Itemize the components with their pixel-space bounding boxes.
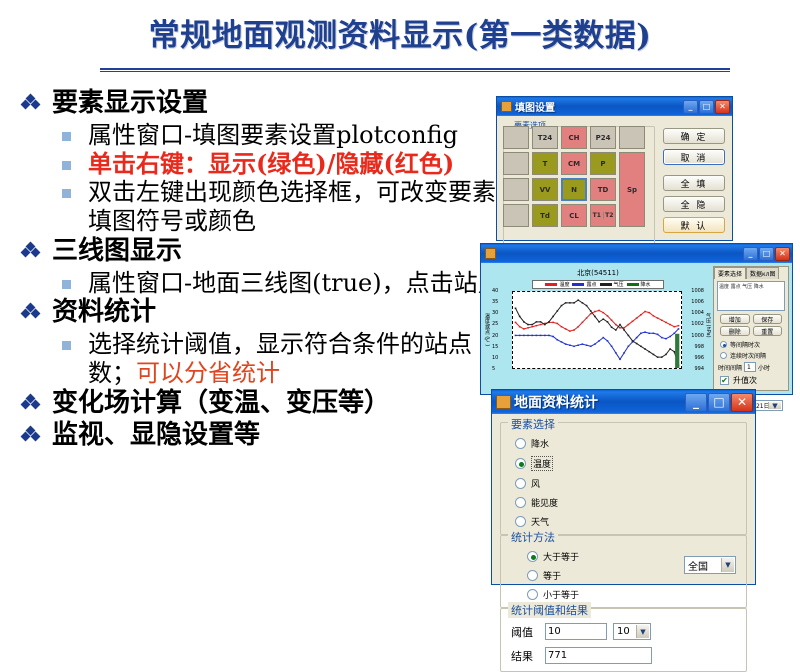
chart-body: 北京(54511) 温度 露点 气压 降水 (481, 263, 792, 394)
chart-marker (536, 335, 538, 337)
radio-label: 小于等于 (543, 588, 579, 601)
chart-marker (552, 322, 554, 324)
radio-label: 等于 (543, 569, 561, 582)
chart-marker (644, 311, 646, 313)
chart-marker (619, 359, 621, 361)
axis-tick-label: 15 (492, 344, 498, 350)
radio-wind[interactable]: 风 (515, 477, 746, 490)
chart-marker (619, 327, 621, 329)
chart-marker (544, 335, 546, 337)
chevron-down-icon[interactable]: ▼ (636, 625, 649, 638)
chart-marker (548, 335, 550, 337)
checkbox-row[interactable]: ✔ 升值次 (720, 375, 782, 386)
axis-tick-label: 1000 (691, 333, 704, 339)
chart-marker (523, 321, 525, 323)
interval-row: 时间间隔 1 小时 (718, 362, 784, 372)
chart-marker (531, 324, 533, 326)
legend-swatch (545, 283, 557, 286)
chart-marker (598, 321, 600, 323)
chart-marker (648, 312, 650, 314)
list-item: 资料统计 (14, 297, 514, 329)
chart-marker (602, 312, 604, 314)
title-divider (100, 68, 730, 72)
close-button[interactable]: ✕ (775, 247, 790, 261)
chart-precip-bar (675, 334, 679, 368)
chart-marker (653, 354, 655, 356)
grid-cell[interactable]: P (590, 152, 616, 175)
chart-marker (548, 321, 550, 323)
list-item: 变化场计算（变温、变压等） (14, 388, 514, 420)
interval-mode-radios: 等间隔时次 连续时次间隔 (720, 340, 782, 360)
chart-marker (632, 321, 634, 323)
chart-plot-canvas (512, 291, 682, 369)
legend-swatch (600, 283, 612, 286)
chart-marker (628, 346, 630, 348)
window-title: 填图设置 (515, 99, 682, 114)
chart-marker (515, 308, 517, 310)
close-button[interactable]: ✕ (731, 393, 753, 412)
grid-cell[interactable]: T (532, 152, 558, 175)
chart-marker (640, 333, 642, 335)
square-bullet-icon (62, 132, 71, 141)
chart-marker (669, 336, 671, 338)
plotconfig-window[interactable]: 填图设置 _ □ ✕ 要素选项 T24 CH P24 T CM P Sp VV … (496, 96, 733, 241)
radio-precipitation[interactable]: 降水 (515, 437, 746, 450)
radio-label: 连续时次间隔 (730, 351, 766, 360)
chart-marker (632, 340, 634, 342)
chart-marker (527, 327, 529, 329)
chart-marker (661, 356, 663, 358)
reset-button[interactable]: 重置 (753, 326, 783, 336)
default-button[interactable]: 默 认 (663, 217, 725, 233)
chart-marker (586, 305, 588, 307)
window-title: 地面资料统计 (514, 392, 684, 412)
radio-less-equal[interactable]: 小于等于 (527, 588, 746, 601)
hide-all-button[interactable]: 全 隐 (663, 196, 725, 212)
chart-marker (665, 338, 667, 340)
minimize-button[interactable]: _ (685, 393, 707, 412)
radio-temperature[interactable]: 温度 (515, 456, 746, 471)
interval-unit: 小时 (758, 363, 770, 372)
fill-all-button[interactable]: 全 填 (663, 175, 725, 191)
chart-marker (653, 333, 655, 335)
chart-marker (577, 326, 579, 328)
chart-marker (636, 337, 638, 339)
axis-tick-label: 5 (492, 366, 495, 372)
grid-cell[interactable]: CM (561, 152, 587, 175)
checkbox-icon[interactable]: ✔ (720, 376, 729, 385)
titlebar[interactable]: 填图设置 _ □ ✕ (497, 97, 732, 116)
chart-marker (556, 339, 558, 341)
chart-marker (640, 346, 642, 348)
chart-marker (519, 316, 521, 318)
radio-bullet-icon (527, 589, 538, 600)
chart-marker (573, 346, 575, 348)
chart-marker (607, 321, 609, 323)
grid-cell[interactable]: Td (532, 204, 558, 227)
chart-marker (582, 302, 584, 304)
chart-marker (552, 336, 554, 338)
chart-marker (590, 313, 592, 315)
chart-marker (523, 328, 525, 330)
axis-tick-label: 994 (694, 366, 704, 372)
element-grid[interactable]: T24 CH P24 T CM P Sp VV N TD Td CL T1 T2 (503, 126, 645, 227)
radio-label: 天气 (531, 515, 549, 528)
page-title: 常规地面观测资料显示(第一类数据) (0, 10, 800, 55)
axis-tick-label: 35 (492, 299, 498, 305)
chart-marker (540, 321, 542, 323)
list-item: 双击左键出现颜色选择框，可改变要素填图符号或颜色 (14, 178, 514, 236)
chart-axes: 温度/露点 (℃) 气压 (hPa) 510152025303540 99499… (484, 291, 712, 377)
chart-marker (544, 324, 546, 326)
square-bullet-icon (62, 280, 71, 289)
chart-marker (515, 322, 517, 324)
chart-marker (569, 330, 571, 332)
axis-tick-label: 25 (492, 321, 498, 327)
axis-tick-label: 1006 (691, 299, 704, 305)
chart-marker (598, 310, 600, 312)
chart-marker (573, 329, 575, 331)
chart-marker (661, 337, 663, 339)
radio-bullet-icon (515, 478, 526, 489)
grid-cell[interactable]: TD (590, 178, 616, 201)
tab-element-select[interactable]: 要素选择 (714, 267, 746, 279)
chart-marker (565, 328, 567, 330)
chart-marker (611, 327, 613, 329)
threshold-label: 阈值 (511, 624, 545, 640)
list-item-label: 资料统计 (52, 297, 156, 327)
group-label: 统计方法 (508, 529, 558, 545)
chart-marker (540, 335, 542, 337)
list-item: 要素显示设置 (14, 88, 514, 120)
chart-marker (669, 324, 671, 326)
list-item-label: 监视、显隐设置等 (52, 420, 260, 450)
chart-area: 北京(54511) 温度 露点 气压 降水 (484, 266, 712, 391)
titlebar[interactable]: 地面资料统计 _ □ ✕ (492, 390, 755, 414)
chart-marker (657, 334, 659, 336)
legend-label: 降水 (641, 281, 651, 288)
plotconfig-body: 要素选项 T24 CH P24 T CM P Sp VV N TD Td CL … (497, 116, 732, 240)
stats-body: 要素选择 降水 温度 风 能见度 (492, 414, 755, 584)
chart-marker (598, 340, 600, 342)
grid-cell[interactable]: VV (532, 178, 558, 201)
list-item-label: 属性窗口-填图要素设置plotconfig (88, 121, 458, 149)
checkbox-label: 升值次 (733, 375, 757, 386)
chart-marker (669, 348, 671, 350)
chart-marker (569, 344, 571, 346)
radio-equal-interval[interactable]: 等间隔时次 (720, 340, 782, 349)
chart-marker (640, 314, 642, 316)
maximize-button[interactable]: □ (708, 393, 730, 412)
square-bullet-icon (62, 161, 71, 170)
radio-label: 风 (531, 477, 540, 490)
chart-marker (648, 333, 650, 335)
radio-bullet-icon (527, 570, 538, 581)
chart-marker (582, 343, 584, 345)
chart-marker (577, 299, 579, 301)
axis-tick-label: 30 (492, 310, 498, 316)
list-item-label: 要素显示设置 (52, 88, 208, 118)
diamond-bullet-icon (22, 305, 39, 319)
threshold-input[interactable]: 10 (545, 623, 607, 640)
chart-marker (594, 316, 596, 318)
radio-bullet-icon (515, 497, 526, 508)
side-button-row-2: 删除 重置 (720, 326, 782, 336)
chart-marker (573, 302, 575, 304)
list-item: 属性窗口-地面三线图(true)，点击站点 (14, 269, 514, 298)
chart-marker (611, 346, 613, 348)
list-item-label: 变化场计算（变温、变压等） (52, 388, 390, 418)
threshold-row: 阈值 10 10 ▼ (511, 623, 746, 640)
chart-marker (623, 329, 625, 331)
app-icon (496, 395, 511, 409)
app-icon (485, 248, 496, 259)
axis-tick-label: 10 (492, 355, 498, 361)
chart-marker (648, 351, 650, 353)
chart-marker (615, 329, 617, 331)
chart-marker (590, 310, 592, 312)
radio-continuous-interval[interactable]: 连续时次间隔 (720, 351, 782, 360)
chart-marker (586, 344, 588, 346)
chart-marker (577, 344, 579, 346)
list-item: 单击右键：显示(绿色)/隐藏(红色) (14, 150, 514, 179)
chart-marker (673, 333, 675, 335)
chart-marker (644, 348, 646, 350)
chart-marker (602, 337, 604, 339)
grid-cell[interactable] (503, 152, 529, 175)
tab-bar[interactable]: 要素选择 数据кл图 (714, 267, 788, 279)
chart-marker (678, 325, 680, 327)
axis-tick-label: 20 (492, 333, 498, 339)
chart-marker (628, 324, 630, 326)
legend-label: 露点 (586, 281, 596, 288)
surface-stats-window[interactable]: 地面资料统计 _ □ ✕ 要素选择 降水 温度 风 (491, 389, 756, 585)
radio-label: 温度 (531, 456, 553, 471)
grid-cell-t1t2[interactable]: T1 T2 (590, 204, 616, 227)
chart-marker (619, 324, 621, 326)
list-item: 监视、显隐设置等 (14, 420, 514, 452)
list-item: 三线图显示 (14, 236, 514, 268)
legend-label: 气压 (614, 281, 624, 288)
interval-input[interactable]: 1 (744, 362, 756, 372)
chart-marker (607, 340, 609, 342)
chart-marker (673, 326, 675, 328)
grid-cell-selected[interactable]: N (561, 178, 587, 201)
threshold-result-group: 统计阈值和结果 阈值 10 10 ▼ 结果 771 (500, 608, 747, 672)
chart-marker (644, 331, 646, 333)
app-icon (501, 101, 512, 112)
radio-visibility[interactable]: 能见度 (515, 496, 746, 509)
interval-label: 时间间隔 (718, 363, 742, 372)
maximize-button[interactable]: □ (699, 100, 714, 114)
titlebar[interactable]: _ □ ✕ (481, 244, 792, 263)
result-label: 结果 (511, 648, 545, 664)
radio-label: 等间隔时次 (730, 340, 760, 349)
chart-legend: 温度 露点 气压 降水 (532, 280, 664, 289)
chart-marker (565, 302, 567, 304)
bullet-list: 要素显示设置 属性窗口-填图要素设置plotconfig 单击右键：显示(绿色)… (14, 88, 514, 453)
minimize-button[interactable]: _ (743, 247, 758, 261)
chart-marker (556, 323, 558, 325)
grid-cell[interactable] (619, 126, 645, 149)
element-radio-list: 降水 温度 风 能见度 天气 (501, 423, 746, 528)
chart-marker (661, 319, 663, 321)
radio-label: 能见度 (531, 496, 558, 509)
grid-cell[interactable] (503, 204, 529, 227)
chart-marker (552, 316, 554, 318)
threshold-unit-select[interactable]: 10 ▼ (613, 623, 651, 640)
chart-marker (582, 322, 584, 324)
side-button-row-1: 增加 保存 (720, 314, 782, 324)
delete-button[interactable]: 删除 (720, 326, 750, 336)
grid-cell-t1[interactable]: T1 (591, 212, 604, 219)
chart-marker (531, 335, 533, 337)
y-axis-label-right: 气压 (hPa) (705, 313, 712, 338)
chart-marker (569, 302, 571, 304)
radio-bullet-icon (720, 341, 727, 348)
chevron-down-icon[interactable]: ▼ (721, 558, 734, 572)
chart-marker (536, 321, 538, 323)
y-axis-label-left: 温度/露点 (℃) (484, 313, 491, 346)
radio-label: 大于等于 (543, 550, 579, 563)
action-button-column: 确 定 取 消 全 填 全 隐 默 认 (663, 128, 725, 238)
list-item-label-highlight: 单击右键：显示(绿色)/隐藏(红色) (88, 149, 454, 178)
sounding-chart-window[interactable]: _ □ ✕ 北京(54511) 温度 露点 气压 (480, 243, 793, 395)
chart-marker (519, 335, 521, 337)
close-button[interactable]: ✕ (715, 100, 730, 114)
legend-item-precipitation: 降水 (627, 281, 651, 288)
minimize-button[interactable]: _ (683, 100, 698, 114)
list-item-label: 三线图显示 (52, 236, 182, 266)
chart-marker (665, 354, 667, 356)
axis-tick-label: 1004 (691, 310, 704, 316)
chart-marker (523, 335, 525, 337)
chart-marker (665, 322, 667, 324)
chart-marker (636, 317, 638, 319)
radio-bullet-icon (720, 352, 727, 359)
group-label: 统计阈值和结果 (508, 602, 591, 618)
chart-marker (602, 318, 604, 320)
element-select-group: 要素选择 降水 温度 风 能见度 (500, 422, 747, 535)
grid-cell[interactable]: P24 (590, 126, 616, 149)
legend-item-temperature: 温度 (545, 281, 569, 288)
axis-tick-label: 40 (492, 288, 498, 294)
legend-swatch (572, 283, 584, 286)
diamond-bullet-icon (22, 96, 39, 110)
chart-marker (594, 311, 596, 313)
save-button[interactable]: 保存 (753, 314, 783, 324)
grid-cell[interactable]: CL (561, 204, 587, 227)
square-bullet-icon (62, 341, 71, 350)
diamond-bullet-icon (22, 396, 39, 410)
chart-marker (586, 317, 588, 319)
result-row: 结果 771 (511, 647, 746, 664)
chart-marker (594, 343, 596, 345)
legend-item-pressure: 气压 (600, 281, 624, 288)
diamond-bullet-icon (22, 428, 39, 442)
legend-label: 温度 (559, 281, 569, 288)
list-item-label: 双击左键出现颜色选择框，可改变要素填图符号或颜色 (88, 178, 496, 235)
ok-button[interactable]: 确 定 (663, 128, 725, 144)
axis-tick-label: 996 (694, 355, 704, 361)
cancel-button[interactable]: 取 消 (663, 149, 725, 165)
chart-marker (527, 324, 529, 326)
axis-tick-label: 1008 (691, 288, 704, 294)
chart-marker (536, 325, 538, 327)
list-item-label-highlight: 可以分省统计 (136, 359, 280, 387)
chart-marker (590, 346, 592, 348)
legend-swatch (627, 283, 639, 286)
radio-bullet-icon (515, 516, 526, 527)
element-listbox[interactable]: 温度 露点 气压 降水 (717, 281, 785, 311)
grid-cell[interactable]: CH (561, 126, 587, 149)
chart-marker (607, 315, 609, 317)
chart-marker (540, 324, 542, 326)
chart-marker (636, 343, 638, 345)
chart-marker (673, 351, 675, 353)
chart-marker (561, 305, 563, 307)
chart-marker (623, 352, 625, 354)
chart-marker (561, 326, 563, 328)
radio-bullet-icon (515, 438, 526, 449)
scope-select[interactable]: 全国 ▼ (684, 556, 736, 574)
grid-cell-sp[interactable]: Sp (619, 152, 645, 227)
chart-marker (615, 352, 617, 354)
threshold-unit-value: 10 (617, 626, 630, 637)
chart-marker (678, 328, 680, 330)
diamond-bullet-icon (22, 244, 39, 258)
grid-cell[interactable] (503, 126, 529, 149)
grid-cell[interactable]: T24 (532, 126, 558, 149)
chart-marker (561, 341, 563, 343)
square-bullet-icon (62, 189, 71, 198)
grid-cell-t2[interactable]: T2 (604, 212, 616, 219)
stat-method-group: 统计方法 大于等于 等于 小于等于 全国 ▼ (500, 535, 747, 608)
chart-marker (527, 335, 529, 337)
chart-marker (611, 319, 613, 321)
radio-bullet-icon (515, 458, 526, 469)
legend-item-dewpoint: 露点 (572, 281, 596, 288)
chart-marker (531, 326, 533, 328)
chart-marker (615, 324, 617, 326)
tab-data-display[interactable]: 数据кл图 (746, 267, 779, 279)
list-item: 属性窗口-填图要素设置plotconfig (14, 121, 514, 150)
chart-marker (657, 356, 659, 358)
chart-marker (657, 317, 659, 319)
list-item: 选择统计阈值，显示符合条件的站点数；可以分省统计 (14, 330, 514, 388)
chart-marker (556, 310, 558, 312)
chevron-down-icon[interactable]: ▼ (768, 402, 781, 409)
radio-bullet-icon (527, 551, 538, 562)
chart-marker (653, 315, 655, 317)
chart-marker (565, 343, 567, 345)
chart-marker (623, 327, 625, 329)
chart-marker (515, 335, 517, 337)
scope-value: 全国 (688, 558, 708, 573)
axis-tick-label: 1002 (691, 321, 704, 327)
group-label: 要素选择 (508, 416, 558, 432)
result-input[interactable]: 771 (545, 647, 652, 664)
list-item-label: 属性窗口-地面三线图(true)，点击站点 (88, 269, 502, 297)
radio-weather[interactable]: 天气 (515, 515, 746, 528)
chart-marker (519, 326, 521, 328)
grid-cell[interactable] (503, 178, 529, 201)
maximize-button[interactable]: □ (759, 247, 774, 261)
chart-title: 北京(54511) (484, 268, 712, 278)
axis-tick-label: 998 (694, 344, 704, 350)
add-button[interactable]: 增加 (720, 314, 750, 324)
radio-label: 降水 (531, 437, 549, 450)
